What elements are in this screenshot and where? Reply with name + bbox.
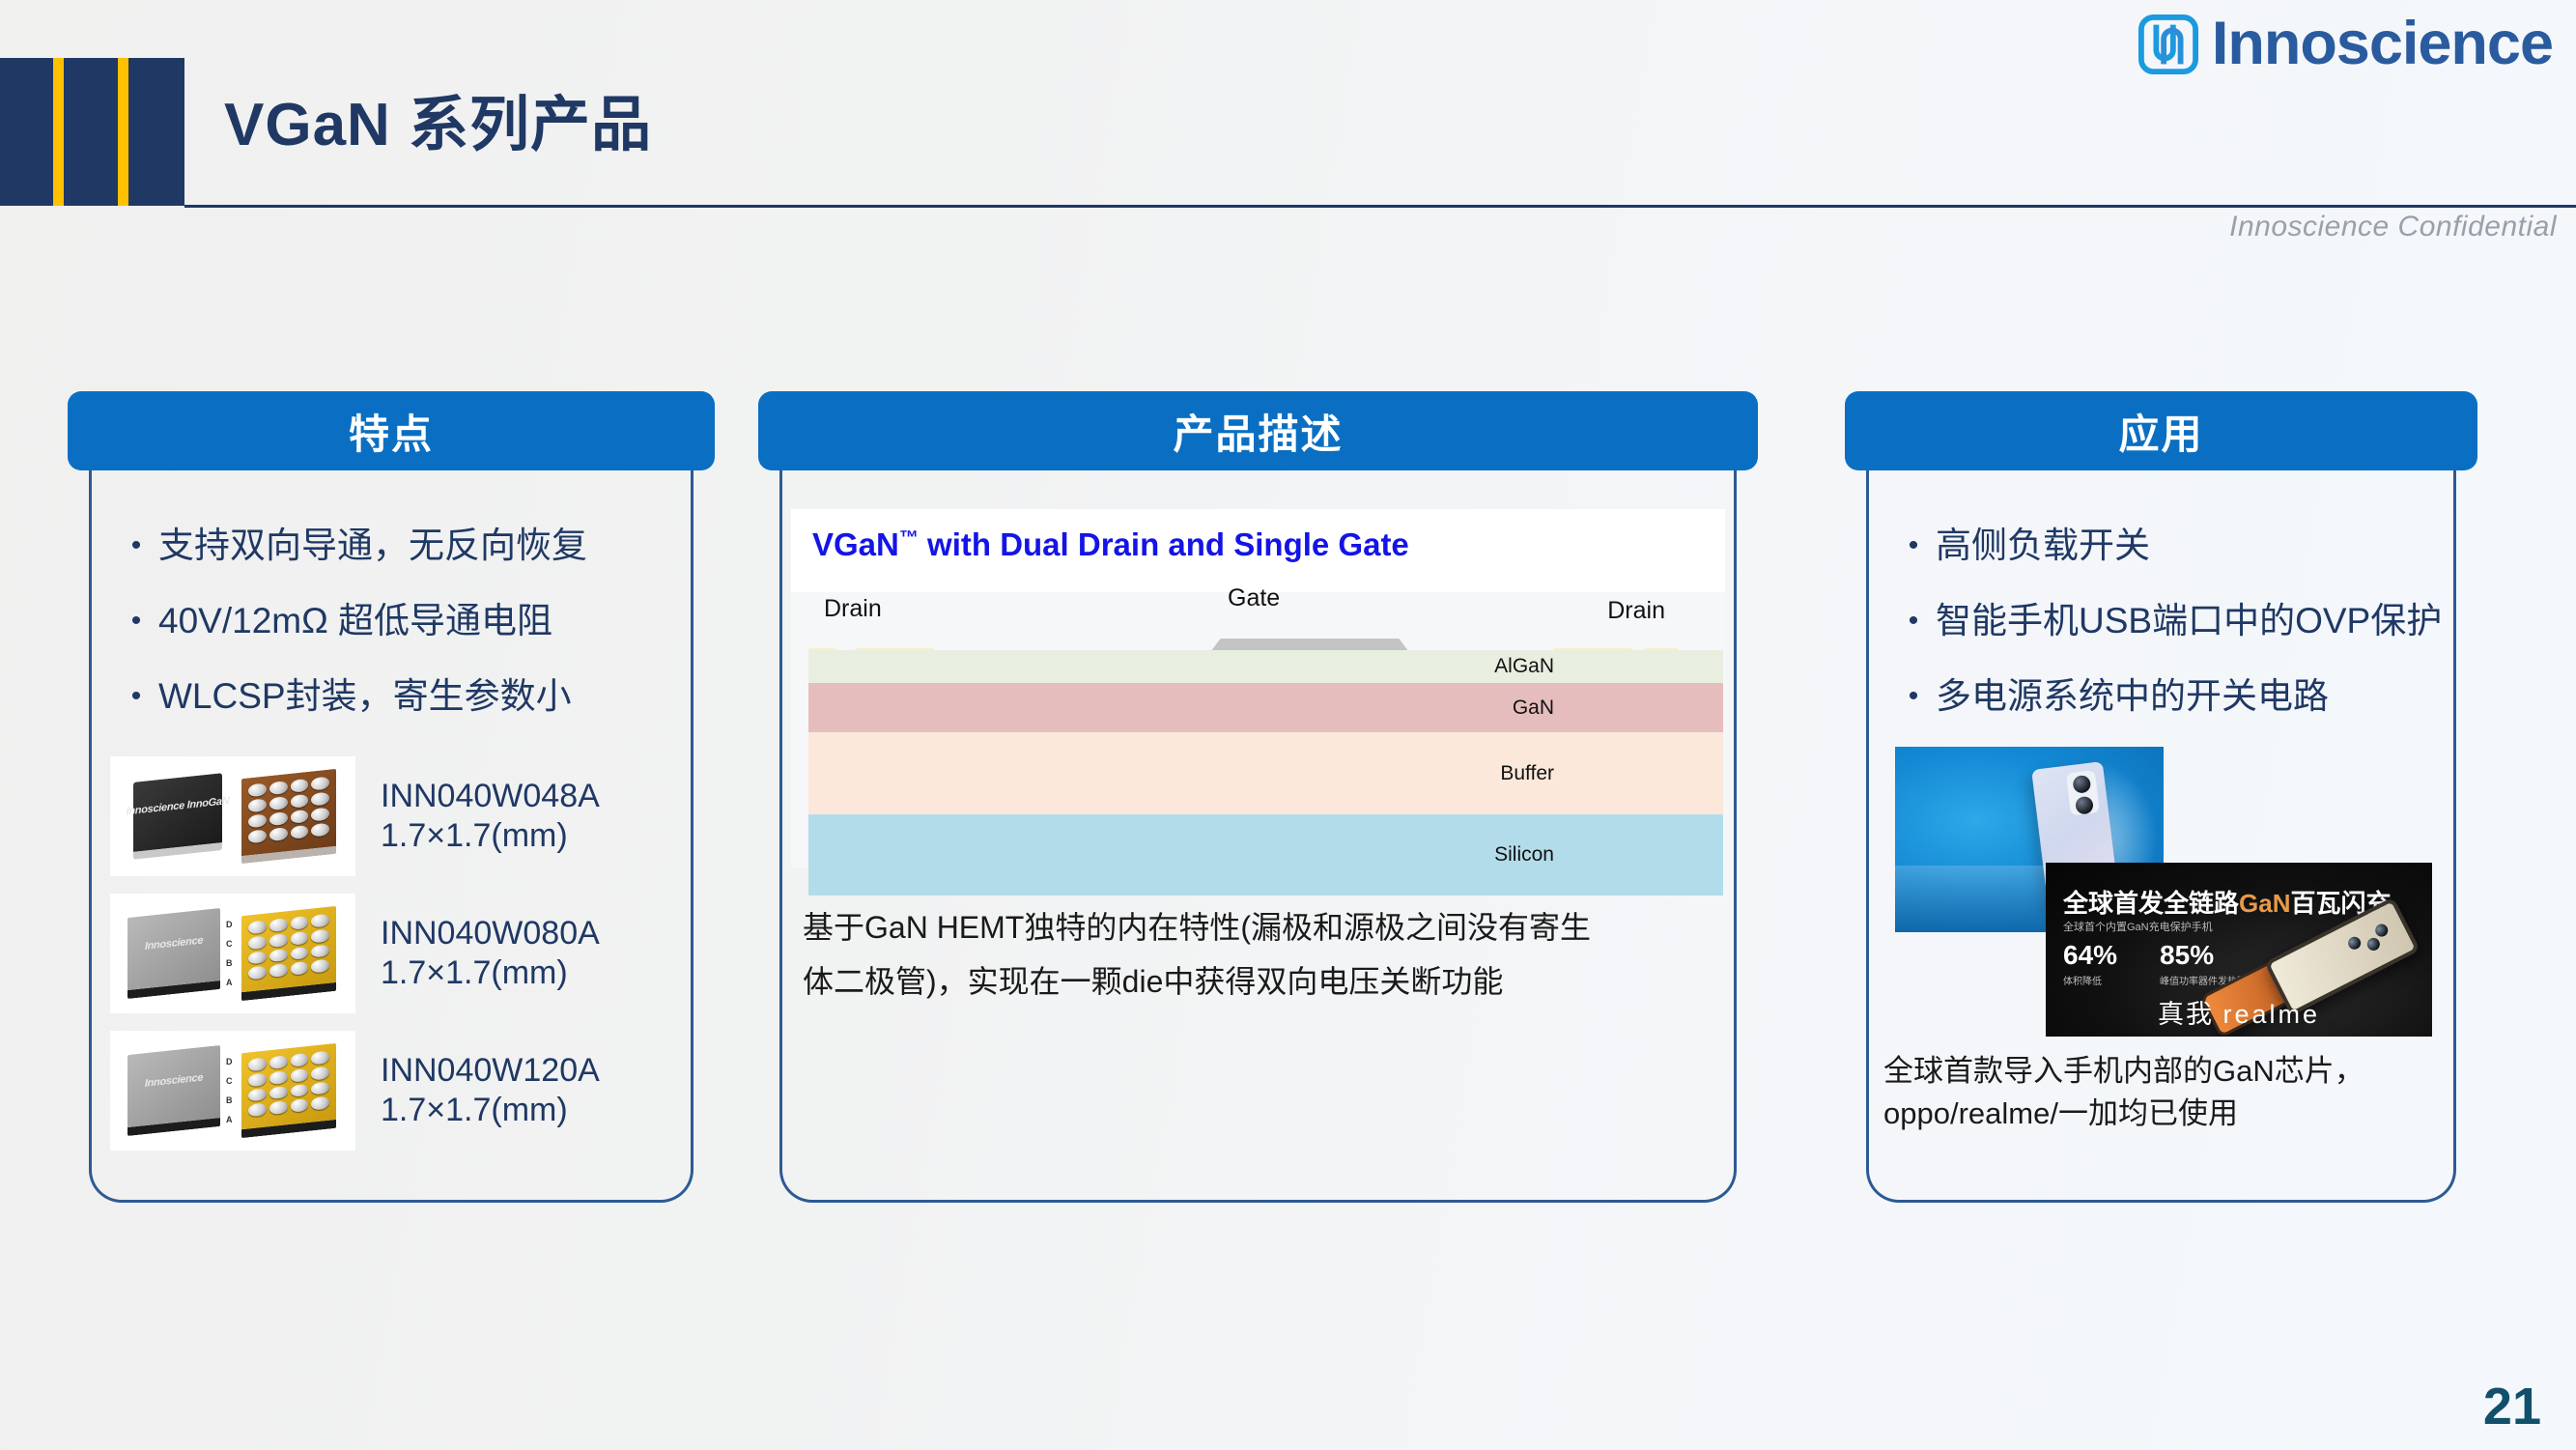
- bullet-dot-icon: •: [1891, 521, 1936, 571]
- banner-stat-caption: 体积降低: [2063, 973, 2117, 987]
- layer-silicon: Silicon: [808, 814, 1723, 896]
- confidential-notice: Innoscience Confidential: [2229, 211, 2557, 243]
- product-dimensions: 1.7×1.7(mm): [381, 953, 600, 993]
- list-item: • 40V/12mΩ 超低导通电阻: [114, 596, 715, 646]
- diagram-label-drain-left: Drain: [824, 595, 882, 623]
- innoscience-mark-icon: [2138, 14, 2198, 74]
- diagram-title-brand: VGaN: [812, 526, 899, 562]
- chip-photo-innogan-black: Innoscience InnoGaN: [110, 756, 355, 876]
- row-letter: A: [226, 978, 240, 987]
- realme-gan-banner: 全球首发全链路GaN百瓦闪充 全球首个内置GaN充电保护手机 64% 体积降低 …: [2046, 863, 2432, 1037]
- banner-headline-prefix: 全球首发全链路: [2063, 889, 2239, 918]
- solder-ball-grid: [248, 1051, 329, 1118]
- cross-section-graphic: Drain Gate Drain pGaN: [791, 592, 1725, 867]
- chip-body-gray: Innoscience: [127, 908, 220, 999]
- product-dimensions: 1.7×1.7(mm): [381, 1091, 600, 1130]
- description-text-block: 基于GaN HEMT独特的内在特性(漏极和源极之间没有寄生 体二极管)，实现在一…: [803, 900, 1713, 1009]
- banner-headline-gan: GaN: [2239, 889, 2290, 918]
- card-description: 产品描述 VGaN™ with Dual Drain and Single Ga…: [758, 391, 1758, 1009]
- chip-body-bga-gold: [241, 1043, 336, 1138]
- chip-body-bga-copper: [241, 769, 336, 864]
- list-item: Innoscience D C B A: [110, 1031, 715, 1151]
- chip-photo-gray-gold-bga: Innoscience D C B A: [110, 1031, 355, 1151]
- card-features-header: 特点: [68, 391, 715, 470]
- banner-stat-value: 64%: [2063, 942, 2117, 969]
- bullet-dot-icon: •: [114, 521, 158, 571]
- bullet-dot-icon: •: [1891, 671, 1936, 722]
- product-label: INN040W048A 1.7×1.7(mm): [381, 777, 600, 857]
- chip-logo-label: Innoscience: [145, 934, 203, 952]
- product-part-number: INN040W048A: [381, 778, 600, 814]
- layer-gan: GaN: [808, 683, 1723, 732]
- solder-ball-grid: [248, 914, 329, 981]
- header-divider: [184, 205, 2576, 208]
- list-item: • WLCSP封装，寄生参数小: [114, 671, 715, 722]
- banner-stat: 64% 体积降低: [2063, 942, 2117, 987]
- banner-brand: 真我 realme: [2158, 993, 2320, 1031]
- chip-logo-label: Innoscience InnoGaN: [127, 795, 230, 818]
- product-part-number: INN040W120A: [381, 1052, 600, 1089]
- diagram-label-drain-right: Drain: [1607, 597, 1665, 625]
- applications-bullet-list: • 高侧负载开关 • 智能手机USB端口中的OVP保护 • 多电源系统中的开关电…: [1845, 470, 2477, 722]
- card-features: 特点 • 支持双向导通，无反向恢复 • 40V/12mΩ 超低导通电阻 • WL…: [68, 391, 715, 1168]
- product-label: INN040W080A 1.7×1.7(mm): [381, 914, 600, 994]
- header-yellow-stripe-2: [118, 58, 128, 206]
- row-letter: A: [226, 1115, 240, 1124]
- features-bullet-text: WLCSP封装，寄生参数小: [158, 671, 572, 722]
- banner-headline: 全球首发全链路GaN百瓦闪充: [2063, 884, 2392, 920]
- bullet-dot-icon: •: [114, 671, 158, 722]
- row-letter: B: [226, 958, 240, 968]
- card-applications-header: 应用: [1845, 391, 2477, 470]
- layer-label: GaN: [1513, 697, 1554, 720]
- layer-label: AlGaN: [1494, 655, 1554, 678]
- camera-module-icon: [2346, 921, 2395, 962]
- applications-caption: 全球首款导入手机内部的GaN芯片， oppo/realme/一加均已使用: [1883, 1050, 2439, 1135]
- page-title: VGaN 系列产品: [224, 75, 652, 162]
- applications-caption-line-1: 全球首款导入手机内部的GaN芯片，: [1883, 1050, 2439, 1093]
- product-dimensions: 1.7×1.7(mm): [381, 816, 600, 856]
- ball-row-letters: D C B A: [226, 915, 240, 992]
- device-cross-section-diagram: VGaN™ with Dual Drain and Single Gate Dr…: [791, 509, 1725, 867]
- layer-label: Buffer: [1500, 762, 1554, 785]
- list-item: • 智能手机USB端口中的OVP保护: [1891, 596, 2477, 646]
- card-description-title: 产品描述: [1173, 402, 1343, 461]
- card-applications-title: 应用: [2118, 402, 2203, 461]
- epitaxial-layer-stack: AlGaN GaN Buffer Silicon: [808, 650, 1723, 896]
- row-letter: C: [226, 939, 240, 949]
- features-bullet-text: 支持双向导通，无反向恢复: [158, 521, 587, 571]
- row-letter: B: [226, 1095, 240, 1105]
- product-label: INN040W120A 1.7×1.7(mm): [381, 1051, 600, 1131]
- product-list: Innoscience InnoGaN INN040W04: [68, 747, 715, 1151]
- card-applications: 应用 • 高侧负载开关 • 智能手机USB端口中的OVP保护 • 多电源系统中的…: [1845, 391, 2477, 1135]
- chip-body-gray: Innoscience: [127, 1045, 220, 1136]
- camera-module-icon: [2066, 770, 2100, 815]
- description-line-1: 基于GaN HEMT独特的内在特性(漏极和源极之间没有寄生: [803, 900, 1713, 954]
- description-line-2: 体二极管)，实现在一颗die中获得双向电压关断功能: [803, 954, 1713, 1009]
- applications-bullet-text: 多电源系统中的开关电路: [1936, 671, 2329, 722]
- features-bullet-list: • 支持双向导通，无反向恢复 • 40V/12mΩ 超低导通电阻 • WLCSP…: [68, 470, 715, 722]
- diagram-label-gate: Gate: [1228, 584, 1280, 612]
- layer-algan: AlGaN: [808, 650, 1723, 683]
- banner-brand-latin: realme: [2222, 1000, 2320, 1029]
- banner-subhead: 全球首个内置GaN充电保护手机: [2063, 919, 2213, 934]
- banner-brand-cn: 真我: [2158, 1000, 2214, 1029]
- list-item: Innoscience D C B A: [110, 894, 715, 1013]
- bullet-dot-icon: •: [114, 596, 158, 646]
- page-number: 21: [2483, 1377, 2541, 1436]
- layer-label: Silicon: [1494, 843, 1554, 867]
- row-letter: D: [226, 920, 240, 929]
- chip-photo-gray-gold-bga: Innoscience D C B A: [110, 894, 355, 1013]
- list-item: • 高侧负载开关: [1891, 521, 2477, 571]
- list-item: • 多电源系统中的开关电路: [1891, 671, 2477, 722]
- header-navy-block: [0, 58, 184, 206]
- diagram-title-bar: VGaN™ with Dual Drain and Single Gate: [791, 509, 1725, 592]
- card-features-title: 特点: [349, 402, 434, 461]
- chip-body-black: Innoscience InnoGaN: [133, 773, 222, 860]
- chip-body-bga-gold: [241, 906, 336, 1001]
- features-bullet-text: 40V/12mΩ 超低导通电阻: [158, 596, 552, 646]
- applications-media: 全球首发全链路GaN百瓦闪充 全球首个内置GaN充电保护手机 64% 体积降低 …: [1868, 747, 2454, 1037]
- row-letter: C: [226, 1076, 240, 1086]
- applications-bullet-text: 高侧负载开关: [1936, 521, 2150, 571]
- ball-row-letters: D C B A: [226, 1052, 240, 1129]
- innoscience-logo: Innoscience: [2138, 14, 2553, 74]
- layer-buffer: Buffer: [808, 732, 1723, 814]
- logo-wordmark: Innoscience: [2212, 14, 2553, 74]
- product-part-number: INN040W080A: [381, 915, 600, 952]
- card-description-header: 产品描述: [758, 391, 1758, 470]
- row-letter: D: [226, 1057, 240, 1066]
- diagram-title: VGaN™ with Dual Drain and Single Gate: [812, 526, 1704, 563]
- applications-bullet-text: 智能手机USB端口中的OVP保护: [1936, 596, 2442, 646]
- header-yellow-stripe-1: [53, 58, 64, 206]
- slide-header: VGaN 系列产品 Innoscience Innoscience Confid…: [0, 0, 2576, 213]
- solder-ball-grid: [248, 777, 329, 844]
- chip-logo-label: Innoscience: [145, 1071, 203, 1090]
- applications-caption-line-2: oppo/realme/一加均已使用: [1883, 1093, 2439, 1135]
- bullet-dot-icon: •: [1891, 596, 1936, 646]
- diagram-title-rest: with Dual Drain and Single Gate: [919, 526, 1409, 562]
- list-item: Innoscience InnoGaN INN040W04: [110, 756, 715, 876]
- list-item: • 支持双向导通，无反向恢复: [114, 521, 715, 571]
- trademark-icon: ™: [899, 527, 919, 549]
